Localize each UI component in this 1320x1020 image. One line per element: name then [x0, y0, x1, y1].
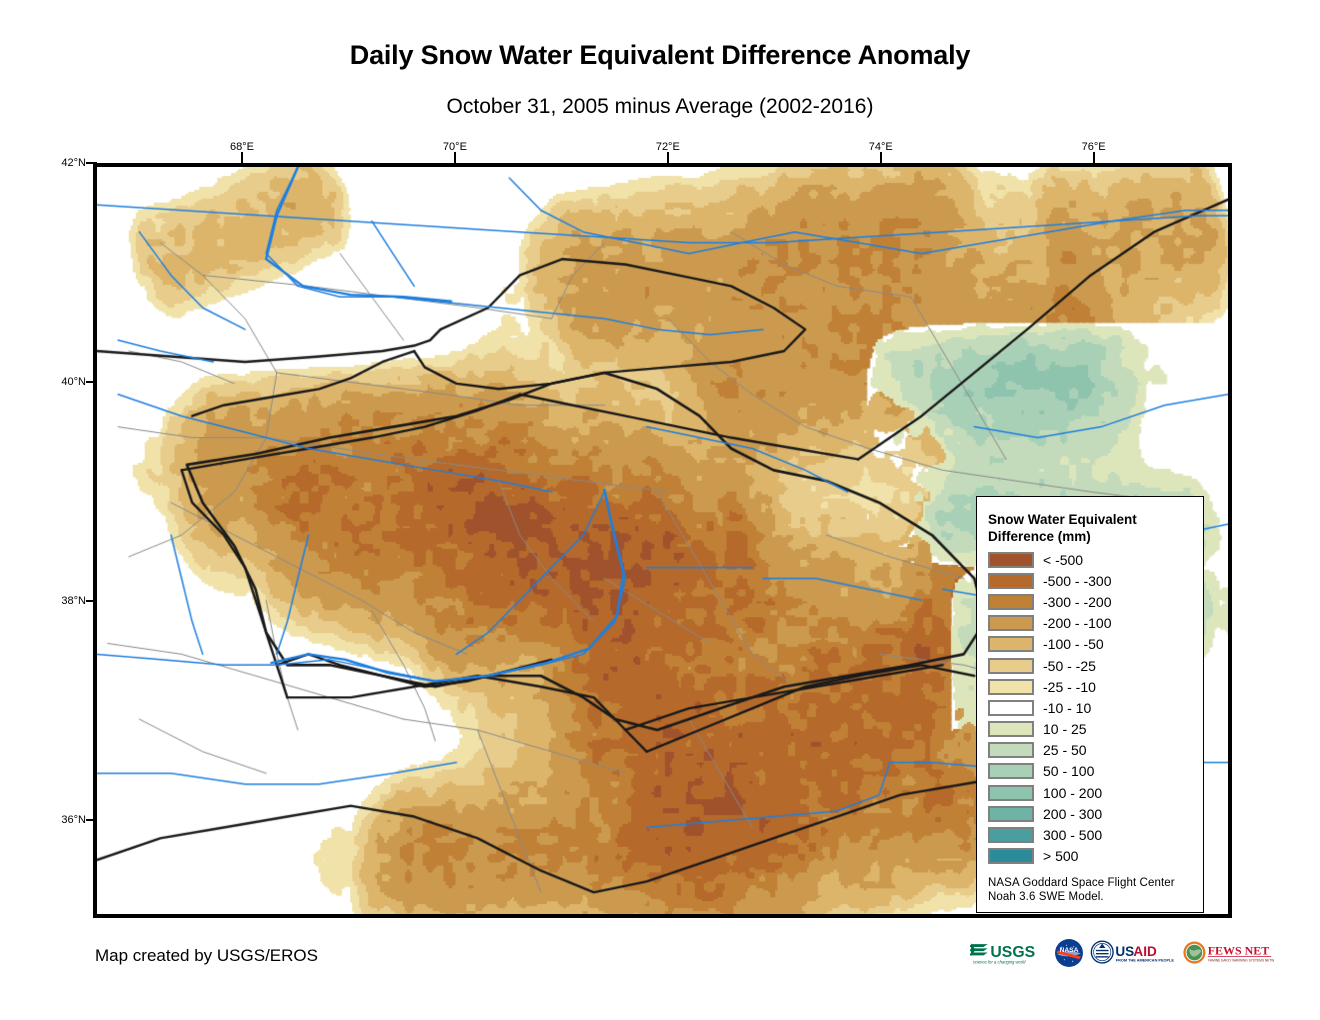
legend-label-12: 200 - 300 — [1043, 806, 1102, 822]
legend-swatch-3 — [988, 615, 1034, 631]
legend-label-1: -500 - -300 — [1043, 573, 1111, 589]
usgs-logo-icon: USGS science for a changing world — [970, 938, 1048, 968]
legend-swatch-13 — [988, 827, 1034, 843]
legend-class-row: -300 - -200 — [988, 591, 1193, 612]
lat-label-2: 38°N — [61, 595, 86, 607]
legend-label-4: -100 - -50 — [1043, 636, 1104, 652]
svg-text:science for a changing world: science for a changing world — [973, 960, 1026, 965]
legend-swatch-0 — [988, 552, 1034, 568]
page-title: Daily Snow Water Equivalent Difference A… — [0, 40, 1320, 71]
legend-label-11: 100 - 200 — [1043, 785, 1102, 801]
legend-swatch-5 — [988, 658, 1034, 674]
fewsnet-logo-icon: FEWS NET FAMINE EARLY WARNING SYSTEMS NE… — [1182, 938, 1274, 968]
legend-swatch-10 — [988, 763, 1034, 779]
legend-label-7: -10 - 10 — [1043, 700, 1091, 716]
legend-swatch-14 — [988, 848, 1034, 864]
legend-class-row: 25 - 50 — [988, 740, 1193, 761]
lon-tick-2 — [667, 152, 669, 163]
legend-label-3: -200 - -100 — [1043, 615, 1111, 631]
svg-text:US: US — [1115, 944, 1134, 959]
legend-swatch-9 — [988, 742, 1034, 758]
legend-class-row: -500 - -300 — [988, 570, 1193, 591]
legend-swatch-1 — [988, 573, 1034, 589]
legend-panel: Snow Water EquivalentDifference (mm) < -… — [976, 496, 1204, 913]
legend-class-row: -10 - 10 — [988, 697, 1193, 718]
svg-text:FAMINE EARLY WARNING SYSTEMS N: FAMINE EARLY WARNING SYSTEMS NETWORK — [1208, 958, 1274, 962]
svg-text:USGS: USGS — [990, 944, 1035, 961]
legend-swatch-11 — [988, 785, 1034, 801]
legend-class-row: 200 - 300 — [988, 803, 1193, 824]
legend-swatch-8 — [988, 721, 1034, 737]
legend-class-row: 50 - 100 — [988, 761, 1193, 782]
legend-class-row: 10 - 25 — [988, 719, 1193, 740]
legend-class-row: 300 - 500 — [988, 824, 1193, 845]
page-subtitle: October 31, 2005 minus Average (2002-201… — [0, 95, 1320, 119]
legend-swatch-7 — [988, 700, 1034, 716]
legend-title-line-1: Snow Water Equivalent — [988, 511, 1178, 528]
legend-label-9: 25 - 50 — [1043, 742, 1087, 758]
legend-source-note: NASA Goddard Space Flight CenterNoah 3.6… — [988, 876, 1193, 904]
lat-label-3: 36°N — [61, 814, 86, 826]
legend-source-line-2: Noah 3.6 SWE Model. — [988, 890, 1193, 904]
svg-text:NASA: NASA — [1059, 947, 1078, 954]
legend-label-5: -50 - -25 — [1043, 658, 1096, 674]
legend-class-row: -25 - -10 — [988, 676, 1193, 697]
svg-text:FEWS NET: FEWS NET — [1208, 943, 1269, 957]
legend-class-row: > 500 — [988, 846, 1193, 867]
lat-label-0: 42°N — [61, 157, 86, 169]
legend-source-line-1: NASA Goddard Space Flight Center — [988, 876, 1193, 890]
legend-label-14: > 500 — [1043, 848, 1078, 864]
nasa-logo-icon: NASA — [1054, 938, 1084, 968]
map-credit: Map created by USGS/EROS — [95, 946, 318, 966]
legend-class-row: -50 - -25 — [988, 655, 1193, 676]
legend-label-10: 50 - 100 — [1043, 763, 1094, 779]
legend-label-6: -25 - -10 — [1043, 679, 1096, 695]
legend-class-row: -100 - -50 — [988, 634, 1193, 655]
lon-tick-4 — [1093, 152, 1095, 163]
svg-text:FROM THE AMERICAN PEOPLE: FROM THE AMERICAN PEOPLE — [1116, 959, 1175, 963]
legend-swatch-2 — [988, 594, 1034, 610]
legend-label-8: 10 - 25 — [1043, 721, 1087, 737]
legend-title-line-2: Difference (mm) — [988, 528, 1178, 545]
legend-class-row: 100 - 200 — [988, 782, 1193, 803]
legend-title: Snow Water EquivalentDifference (mm) — [988, 511, 1178, 545]
lon-tick-1 — [454, 152, 456, 163]
legend-swatch-6 — [988, 679, 1034, 695]
usaid-logo-icon: US AID FROM THE AMERICAN PEOPLE — [1090, 938, 1176, 968]
legend-class-list: < -500-500 - -300-300 - -200-200 - -100-… — [988, 549, 1193, 867]
svg-text:AID: AID — [1133, 944, 1157, 959]
lon-tick-3 — [880, 152, 882, 163]
lat-label-1: 40°N — [61, 376, 86, 388]
agency-logo-strip: USGS science for a changing world NASA — [970, 936, 1274, 970]
legend-class-row: < -500 — [988, 549, 1193, 570]
legend-label-2: -300 - -200 — [1043, 594, 1111, 610]
legend-swatch-4 — [988, 636, 1034, 652]
legend-label-13: 300 - 500 — [1043, 827, 1102, 843]
legend-swatch-12 — [988, 806, 1034, 822]
legend-label-0: < -500 — [1043, 552, 1083, 568]
legend-class-row: -200 - -100 — [988, 613, 1193, 634]
lon-tick-0 — [241, 152, 243, 163]
